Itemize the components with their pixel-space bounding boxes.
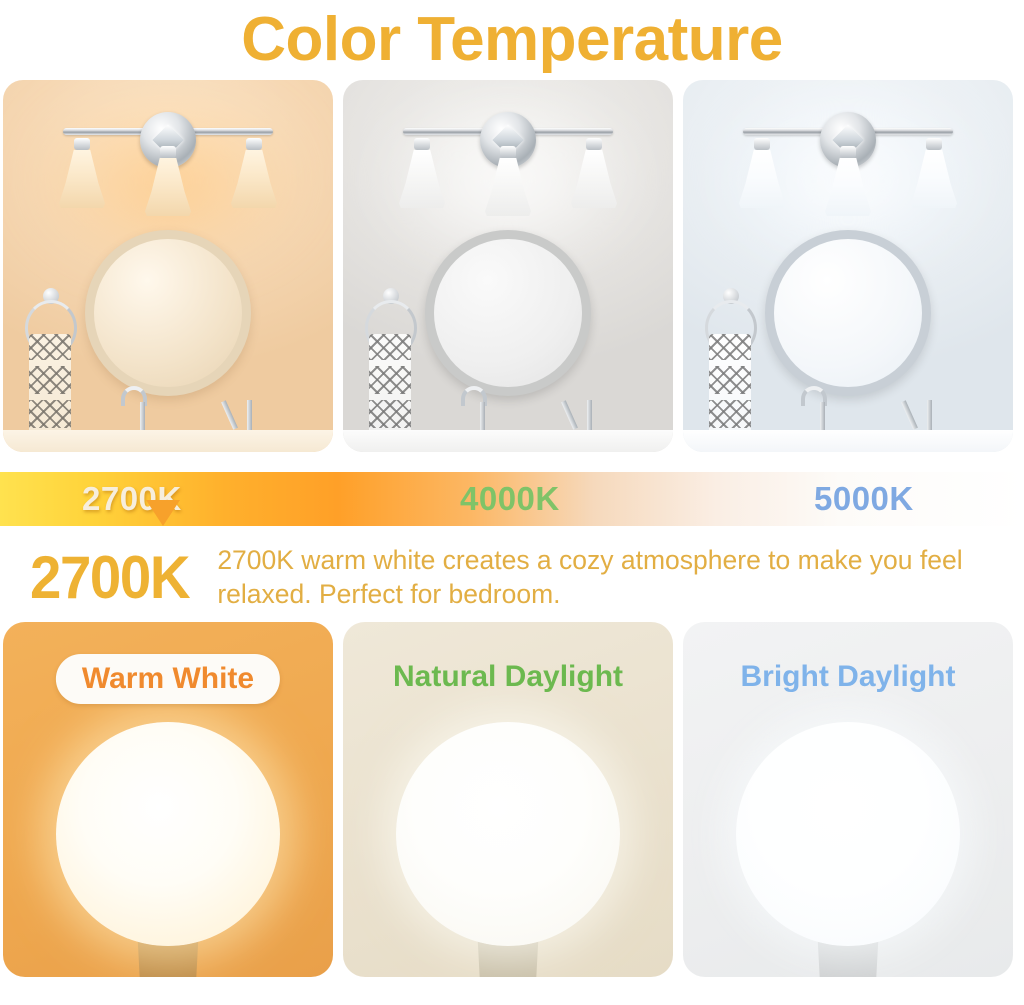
bulb-panel-row: Warm White Natural Daylight Bright Dayli… (0, 622, 1024, 982)
faucet-stem (820, 402, 825, 430)
shade-neck (500, 146, 516, 158)
shade-glass (145, 158, 191, 216)
lamp-shade (571, 146, 617, 208)
shade-glass (399, 150, 445, 208)
countertop (683, 430, 1013, 452)
countertop (3, 430, 333, 452)
hook-arm (587, 400, 592, 430)
bulb-globe-icon (396, 722, 620, 946)
lamp-shade (231, 146, 277, 208)
scene-panel-2700k[interactable] (3, 80, 333, 452)
scene-panel-row (0, 80, 1024, 462)
vanity-light-fixture-icon (393, 106, 623, 216)
towel-ring-icon (17, 288, 79, 452)
color-temperature-scale[interactable]: 2700K 4000K 5000K (0, 472, 1024, 526)
shade-glass (825, 158, 871, 216)
vanity-light-fixture-icon (53, 106, 283, 216)
selected-temperature-pointer-icon (146, 500, 180, 526)
lamp-shade (739, 146, 785, 208)
round-mirror-icon (425, 230, 591, 396)
robe-hook-icon (905, 396, 935, 430)
vanity-light-fixture-icon (733, 106, 963, 216)
lamp-shade (825, 154, 871, 216)
round-mirror-icon (85, 230, 251, 396)
faucet-icon (801, 386, 835, 430)
shade-glass (59, 150, 105, 208)
bulb-panel-natural-daylight[interactable]: Natural Daylight (343, 622, 673, 977)
shade-glass (571, 150, 617, 208)
mirror-glass (94, 239, 242, 387)
lamp-shade (145, 154, 191, 216)
faucet-stem (480, 402, 485, 430)
temp-label-5000k[interactable]: 5000K (814, 480, 914, 518)
scene-panel-4000k[interactable] (343, 80, 673, 452)
shade-neck (414, 138, 430, 150)
hook-arm (221, 400, 238, 429)
description-kelvin: 2700K (30, 548, 189, 608)
shade-neck (246, 138, 262, 150)
shade-neck (586, 138, 602, 150)
towel-ring-icon (357, 288, 419, 452)
lamp-shade (911, 146, 957, 208)
faucet-stem (140, 402, 145, 430)
mirror-glass (434, 239, 582, 387)
robe-hook-icon (565, 396, 595, 430)
round-mirror-icon (765, 230, 931, 396)
description-row: 2700K 2700K warm white creates a cozy at… (0, 526, 1024, 622)
description-text: 2700K warm white creates a cozy atmosphe… (217, 544, 1000, 612)
faucet-icon (461, 386, 495, 430)
countertop (343, 430, 673, 452)
temp-label-4000k[interactable]: 4000K (460, 480, 560, 518)
shade-neck (754, 138, 770, 150)
shade-neck (926, 138, 942, 150)
page-title: Color Temperature (241, 9, 783, 71)
bulb-panel-bright-daylight[interactable]: Bright Daylight (683, 622, 1013, 977)
bulb-label-natural-daylight: Natural Daylight (393, 660, 623, 694)
shade-neck (840, 146, 856, 158)
shade-neck (74, 138, 90, 150)
shade-glass (231, 150, 277, 208)
mirror-glass (774, 239, 922, 387)
lamp-shade (485, 154, 531, 216)
hook-arm (247, 400, 252, 430)
shade-glass (485, 158, 531, 216)
scene-panel-5000k[interactable] (683, 80, 1013, 452)
bulb-label-warm-white: Warm White (56, 654, 280, 704)
bulb-label-bright-daylight: Bright Daylight (741, 660, 956, 694)
faucet-icon (121, 386, 155, 430)
bulb-globe-icon (56, 722, 280, 946)
bulb-globe-icon (736, 722, 960, 946)
hook-arm (901, 400, 918, 429)
towel-ring-icon (697, 288, 759, 452)
hook-arm (927, 400, 932, 430)
shade-neck (160, 146, 176, 158)
hook-arm (561, 400, 578, 429)
shade-glass (911, 150, 957, 208)
shade-glass (739, 150, 785, 208)
header: Color Temperature (0, 0, 1024, 80)
bulb-panel-warm-white[interactable]: Warm White (3, 622, 333, 977)
lamp-shade (59, 146, 105, 208)
robe-hook-icon (225, 396, 255, 430)
lamp-shade (399, 146, 445, 208)
